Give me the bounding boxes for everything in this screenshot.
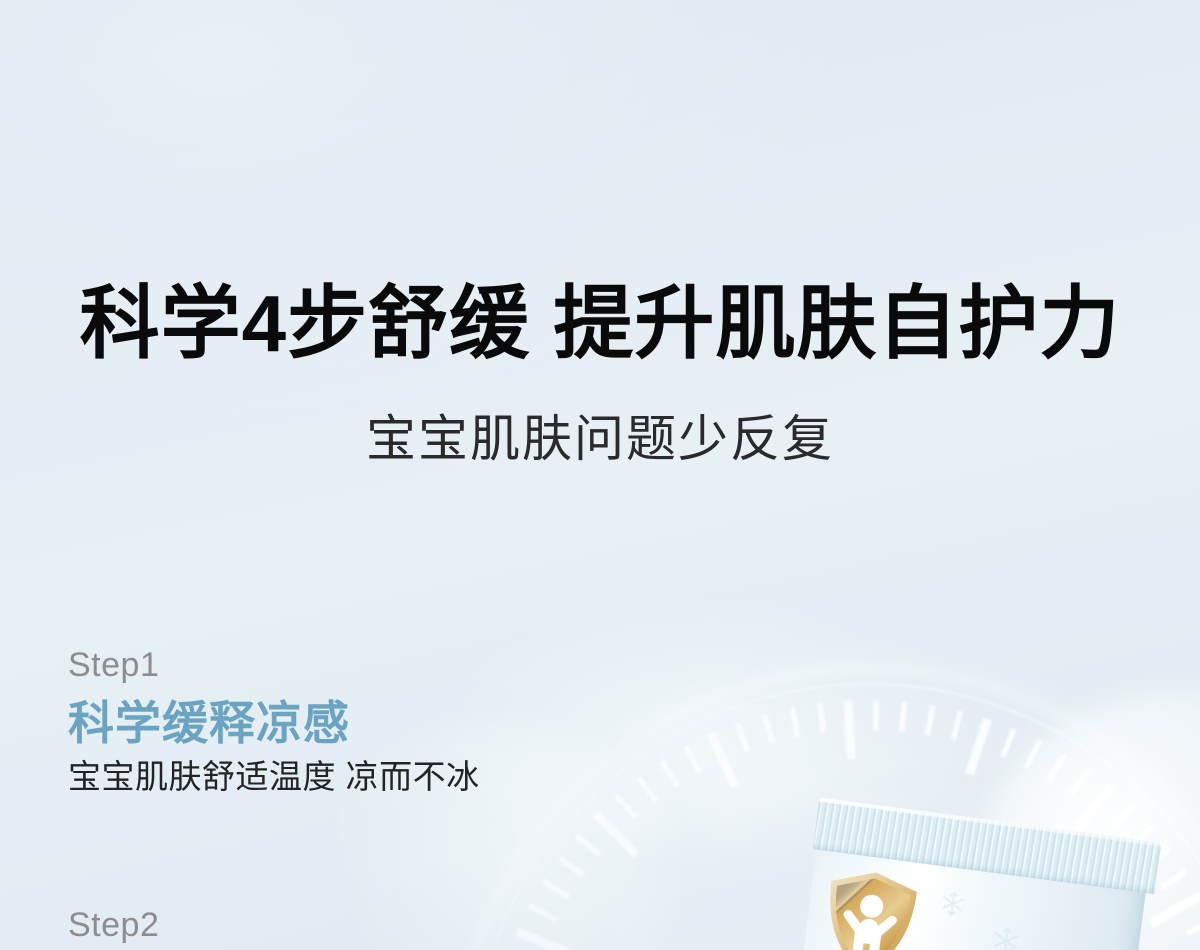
gauge-minor-tick [820, 703, 824, 733]
gauge-major-tick [970, 719, 988, 774]
gauge-minor-tick [686, 746, 700, 772]
page-title: 科学4步舒缓 提升肌肤自护力 [0, 283, 1200, 365]
gauge-major-tick [517, 931, 570, 950]
gauge-minor-tick [529, 906, 556, 920]
gauge-minor-tick [576, 835, 599, 854]
gauge-minor-tick [1111, 806, 1132, 828]
step-1-number: Step1 [68, 648, 480, 682]
step-block-1: Step1 科学缓释凉感 宝宝肌肤舒适温度 凉而不冰 [68, 648, 480, 793]
gauge-minor-tick [953, 711, 960, 740]
gauge-minor-tick [876, 700, 877, 730]
gauge-minor-tick [1049, 755, 1064, 781]
promo-page: 科学4步舒缓 提升肌肤自护力 宝宝肌肤问题少反复 Step1 科学缓释凉感 宝宝… [0, 0, 1200, 950]
gauge-minor-tick [661, 761, 677, 786]
gold-shield-child-icon [815, 863, 924, 950]
gauge-minor-tick [1003, 729, 1015, 757]
gauge-minor-tick [737, 723, 747, 751]
gauge-major-tick [596, 814, 637, 855]
gauge-minor-tick [764, 714, 772, 743]
gauge-minor-tick [1071, 770, 1088, 795]
gauge-minor-tick [902, 702, 905, 732]
gauge-minor-tick [928, 706, 933, 736]
gauge-minor-tick [616, 795, 636, 818]
step-2-number: Step2 [68, 908, 159, 942]
step-1-description: 宝宝肌肤舒适温度 凉而不冰 [68, 760, 480, 793]
step-1-title: 科学缓释凉感 [68, 700, 480, 746]
gauge-major-tick [848, 701, 851, 759]
cream-tube [782, 795, 1200, 950]
gauge-minor-tick [1026, 741, 1040, 768]
gauge-major-tick [1074, 787, 1111, 832]
radial-gauge-dial [0, 0, 1200, 950]
gauge-minor-tick [792, 708, 798, 737]
gauge-ticks-svg [0, 0, 1200, 950]
gauge-minor-tick [543, 881, 569, 897]
gauge-minor-tick [559, 858, 583, 876]
gauge-major-tick [711, 734, 735, 787]
gauge-minor-tick [638, 777, 656, 801]
step-block-2: Step2 [68, 908, 159, 942]
page-subtitle: 宝宝肌肤问题少反复 [0, 412, 1200, 467]
